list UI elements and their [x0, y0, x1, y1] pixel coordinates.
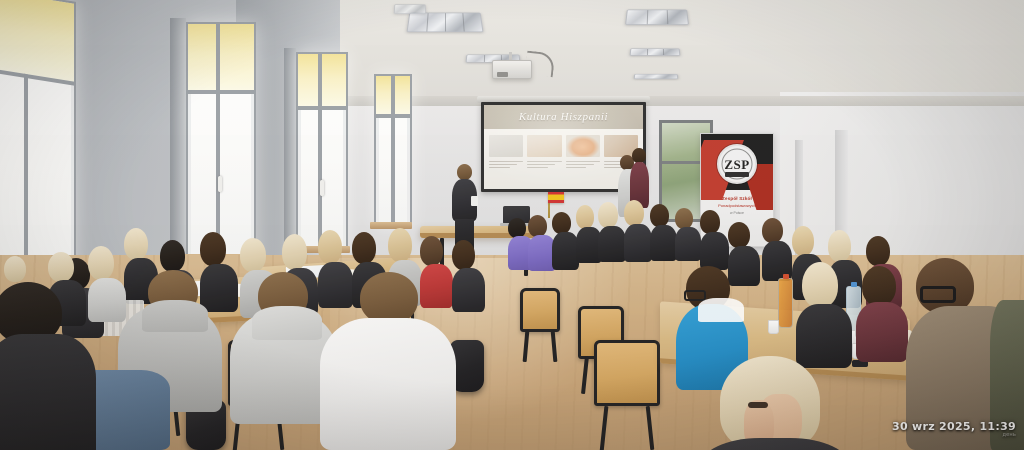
- student-head: [598, 202, 618, 228]
- banner-line-1: Zespół Szkół: [701, 196, 773, 201]
- window-2-handle[interactable]: [218, 176, 222, 192]
- window-2-upper-pane: [188, 24, 254, 90]
- chair-backrest: [520, 288, 560, 332]
- slide-header: Kultura Hiszpanii: [484, 105, 643, 129]
- student-head: [352, 232, 376, 264]
- slide-caption: [566, 161, 600, 170]
- student-body: [728, 246, 760, 286]
- classroom-photo: Kultura Hiszpanii: [0, 0, 1024, 450]
- bottle-cap-icon: [851, 282, 857, 287]
- window-2-reveal: [170, 18, 186, 266]
- student-body: [452, 268, 485, 312]
- zsp-logo-icon: ZSP: [717, 144, 757, 184]
- student-head: [452, 240, 475, 270]
- chair: [594, 340, 660, 450]
- student-head: [282, 234, 307, 270]
- student-head: [576, 205, 594, 229]
- ceiling-light-4: [630, 48, 681, 55]
- student-head: [360, 272, 418, 324]
- presenter-left-hands: [471, 196, 478, 206]
- window-2-transom: [188, 90, 254, 94]
- ceiling-light-6: [394, 4, 427, 14]
- student-body: [650, 225, 677, 261]
- slide-thumbnail-row: [489, 135, 638, 157]
- slide-thumbnail: [489, 135, 523, 157]
- student-head: [318, 230, 342, 264]
- chair-leg: [581, 356, 589, 394]
- window-3-transom: [298, 106, 346, 110]
- student-body: [420, 264, 453, 308]
- student-head: [866, 236, 890, 266]
- slide-thumbnail: [566, 135, 600, 157]
- slide-caption-row: [489, 161, 638, 170]
- timestamp-text: 30 wrz 2025, 11:39: [892, 420, 1016, 433]
- student-hood: [252, 306, 322, 340]
- window-3-handle[interactable]: [320, 180, 324, 196]
- student-head: [650, 204, 669, 227]
- student-head: [802, 262, 838, 308]
- student-head: [862, 266, 896, 306]
- student-head: [792, 226, 814, 256]
- student-hoodie-hood: [698, 298, 744, 322]
- student-body: [0, 334, 96, 450]
- student-head: [200, 232, 226, 266]
- student-head: [552, 212, 571, 234]
- student-head: [160, 240, 185, 272]
- student-glasses-icon: [920, 286, 956, 303]
- bottle-cap-icon: [783, 274, 789, 279]
- student-body: [624, 224, 652, 262]
- student-body: [552, 232, 579, 270]
- juice-bottle: [778, 278, 793, 328]
- student-head: [700, 210, 720, 234]
- student-head: [728, 222, 750, 248]
- ceiling-cornice: [330, 96, 1024, 106]
- student-head: [4, 256, 26, 282]
- window-3[interactable]: [296, 52, 348, 252]
- window-4-sill: [370, 222, 412, 229]
- projector-lens: [497, 72, 508, 77]
- chair-leg: [551, 330, 558, 362]
- student-body: [856, 302, 908, 362]
- student-body: [200, 264, 238, 312]
- student-head: [48, 252, 74, 282]
- student-body: [320, 318, 456, 450]
- student-body: [675, 227, 701, 261]
- student-body: [88, 278, 126, 322]
- spanish-flag-icon: [548, 192, 564, 203]
- plastic-cup: [768, 320, 779, 334]
- student-head: [828, 230, 851, 262]
- student-head: [675, 208, 693, 229]
- student-head: [508, 218, 526, 238]
- presenter-right-b-head: [632, 148, 646, 163]
- slide-thumbnail: [527, 135, 561, 157]
- ceiling-light-5: [634, 74, 679, 79]
- window-3-reveal: [284, 48, 296, 254]
- chair: [520, 288, 560, 362]
- chair-leg: [600, 406, 609, 450]
- ceiling-light-2: [625, 10, 689, 25]
- window-1-upper-pane: [0, 0, 74, 82]
- chair-leg: [646, 406, 655, 450]
- student-head: [528, 215, 547, 237]
- ceiling-light-1: [407, 13, 484, 32]
- banner-line-2: Ponadpodstawowych: [701, 203, 773, 208]
- student-nails-icon: [748, 402, 768, 408]
- slide-caption: [489, 161, 523, 170]
- window-4-mullion: [391, 76, 395, 226]
- student-body: [796, 304, 852, 368]
- chair-backrest: [594, 340, 660, 406]
- student-head: [88, 246, 114, 280]
- student-glasses-icon: [684, 290, 706, 301]
- chair-leg: [523, 330, 530, 362]
- student-head: [420, 236, 443, 266]
- zsp-logo-bar: [725, 172, 749, 177]
- student-body: [700, 232, 729, 270]
- slide-caption: [527, 161, 561, 170]
- student-hood: [142, 300, 208, 332]
- window-4[interactable]: [374, 74, 412, 228]
- window-3-mullion: [318, 54, 322, 250]
- student-body: [318, 262, 353, 308]
- student-head: [388, 228, 412, 262]
- student-head: [624, 200, 644, 226]
- student-head: [762, 218, 783, 243]
- window-3-upper-pane: [298, 54, 346, 106]
- student-head: [124, 228, 148, 260]
- presenter-left-head: [457, 164, 472, 180]
- slide-title: Kultura Hiszpanii: [519, 111, 608, 123]
- window-2[interactable]: [186, 22, 256, 260]
- student-head: [240, 238, 266, 272]
- student-body: [598, 226, 626, 262]
- window-2-mullion: [216, 24, 220, 258]
- camera-timestamp: 30 wrz 2025, 11:39 день: [892, 420, 1016, 438]
